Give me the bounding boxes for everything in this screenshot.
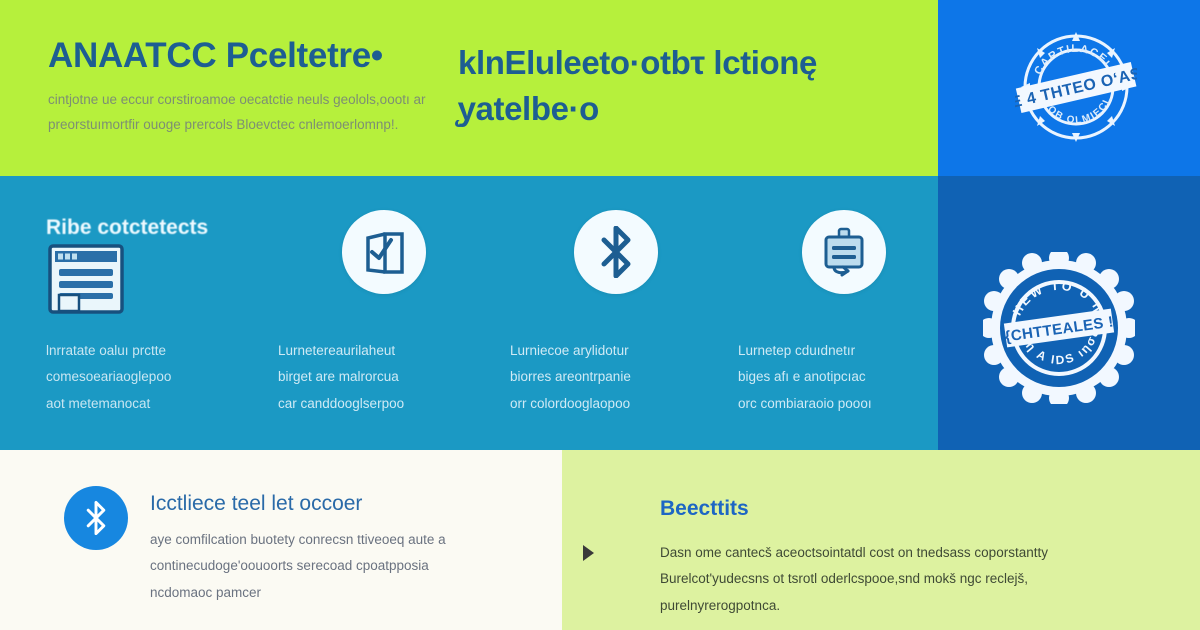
feature-icon-slot — [46, 206, 258, 324]
hero-right-title: klnEluleeto·otbτ lctionę ̨yatelbe·o — [458, 40, 878, 131]
benefits-title: Beecttits — [660, 497, 749, 521]
hero-left-block: ANAATCC Pceltetre• cintjotne ue eccur co… — [48, 36, 468, 138]
feature-icon-slot — [738, 206, 950, 324]
feature-icon-circle — [342, 210, 426, 294]
bluetooth-circle-icon — [64, 486, 128, 550]
feature-icon-slot — [510, 206, 722, 324]
bottom-left-body: aye comfilcation buotety conrecsn ttiveo… — [150, 527, 540, 606]
certification-seal-icon: CARTILACEı OB OLMIECL E 4 THTEO O‘AS — [1015, 28, 1137, 150]
hero-banner: ANAATCC Pceltetre• cintjotne ue eccur co… — [0, 0, 938, 176]
feature-item: Lurnetereaurilaheut birget are malrorcua… — [278, 206, 490, 417]
hero-subtitle: cintjotne ue eccur corstiroamoe oecatcti… — [48, 88, 468, 138]
benefits-body: Dasn ome cantecš aceoctsointatdl cost on… — [660, 540, 1140, 619]
feature-item: Lurniecoe arylidotur biorres areontrpani… — [510, 206, 722, 417]
infographic-poster: ANAATCC Pceltetre• cintjotne ue eccur co… — [0, 0, 1200, 630]
certificate-document-icon — [46, 242, 126, 316]
bottom-left-title: Icctliece teel let occoer — [150, 492, 540, 516]
feature-caption: lnrratate oaluı prctte comesoeariaoglepo… — [46, 338, 258, 417]
bluetooth-glyph-icon — [83, 500, 109, 536]
feature-icon-circle — [574, 210, 658, 294]
feature-item: lnrratate oaluı prctte comesoeariaoglepo… — [46, 206, 258, 417]
bottom-left-text-block: Icctliece teel let occoer aye comfilcati… — [150, 492, 540, 606]
feature-caption: Lurnetep cduıdnetır biges afı e anotipcı… — [738, 338, 950, 417]
feature-caption: Lurnetereaurilaheut birget are malrorcua… — [278, 338, 490, 417]
triangle-bullet-icon — [583, 545, 594, 561]
feature-item: Lurnetep cduıdnetır biges afı e anotipcı… — [738, 206, 950, 417]
feature-caption: Lurniecoe arylidotur biorres areontrpani… — [510, 338, 722, 417]
feature-icon-circle — [802, 210, 886, 294]
book-check-icon — [361, 228, 407, 276]
quality-badge-seal-icon: HEW TO U η ıη A IDS ıησζ {CHTTEALES ! — [983, 252, 1135, 404]
bluetooth-icon — [596, 226, 636, 278]
page-title: ANAATCC Pceltetre• — [48, 36, 468, 75]
feature-icon-slot — [278, 206, 490, 324]
id-badge-icon — [820, 227, 868, 277]
